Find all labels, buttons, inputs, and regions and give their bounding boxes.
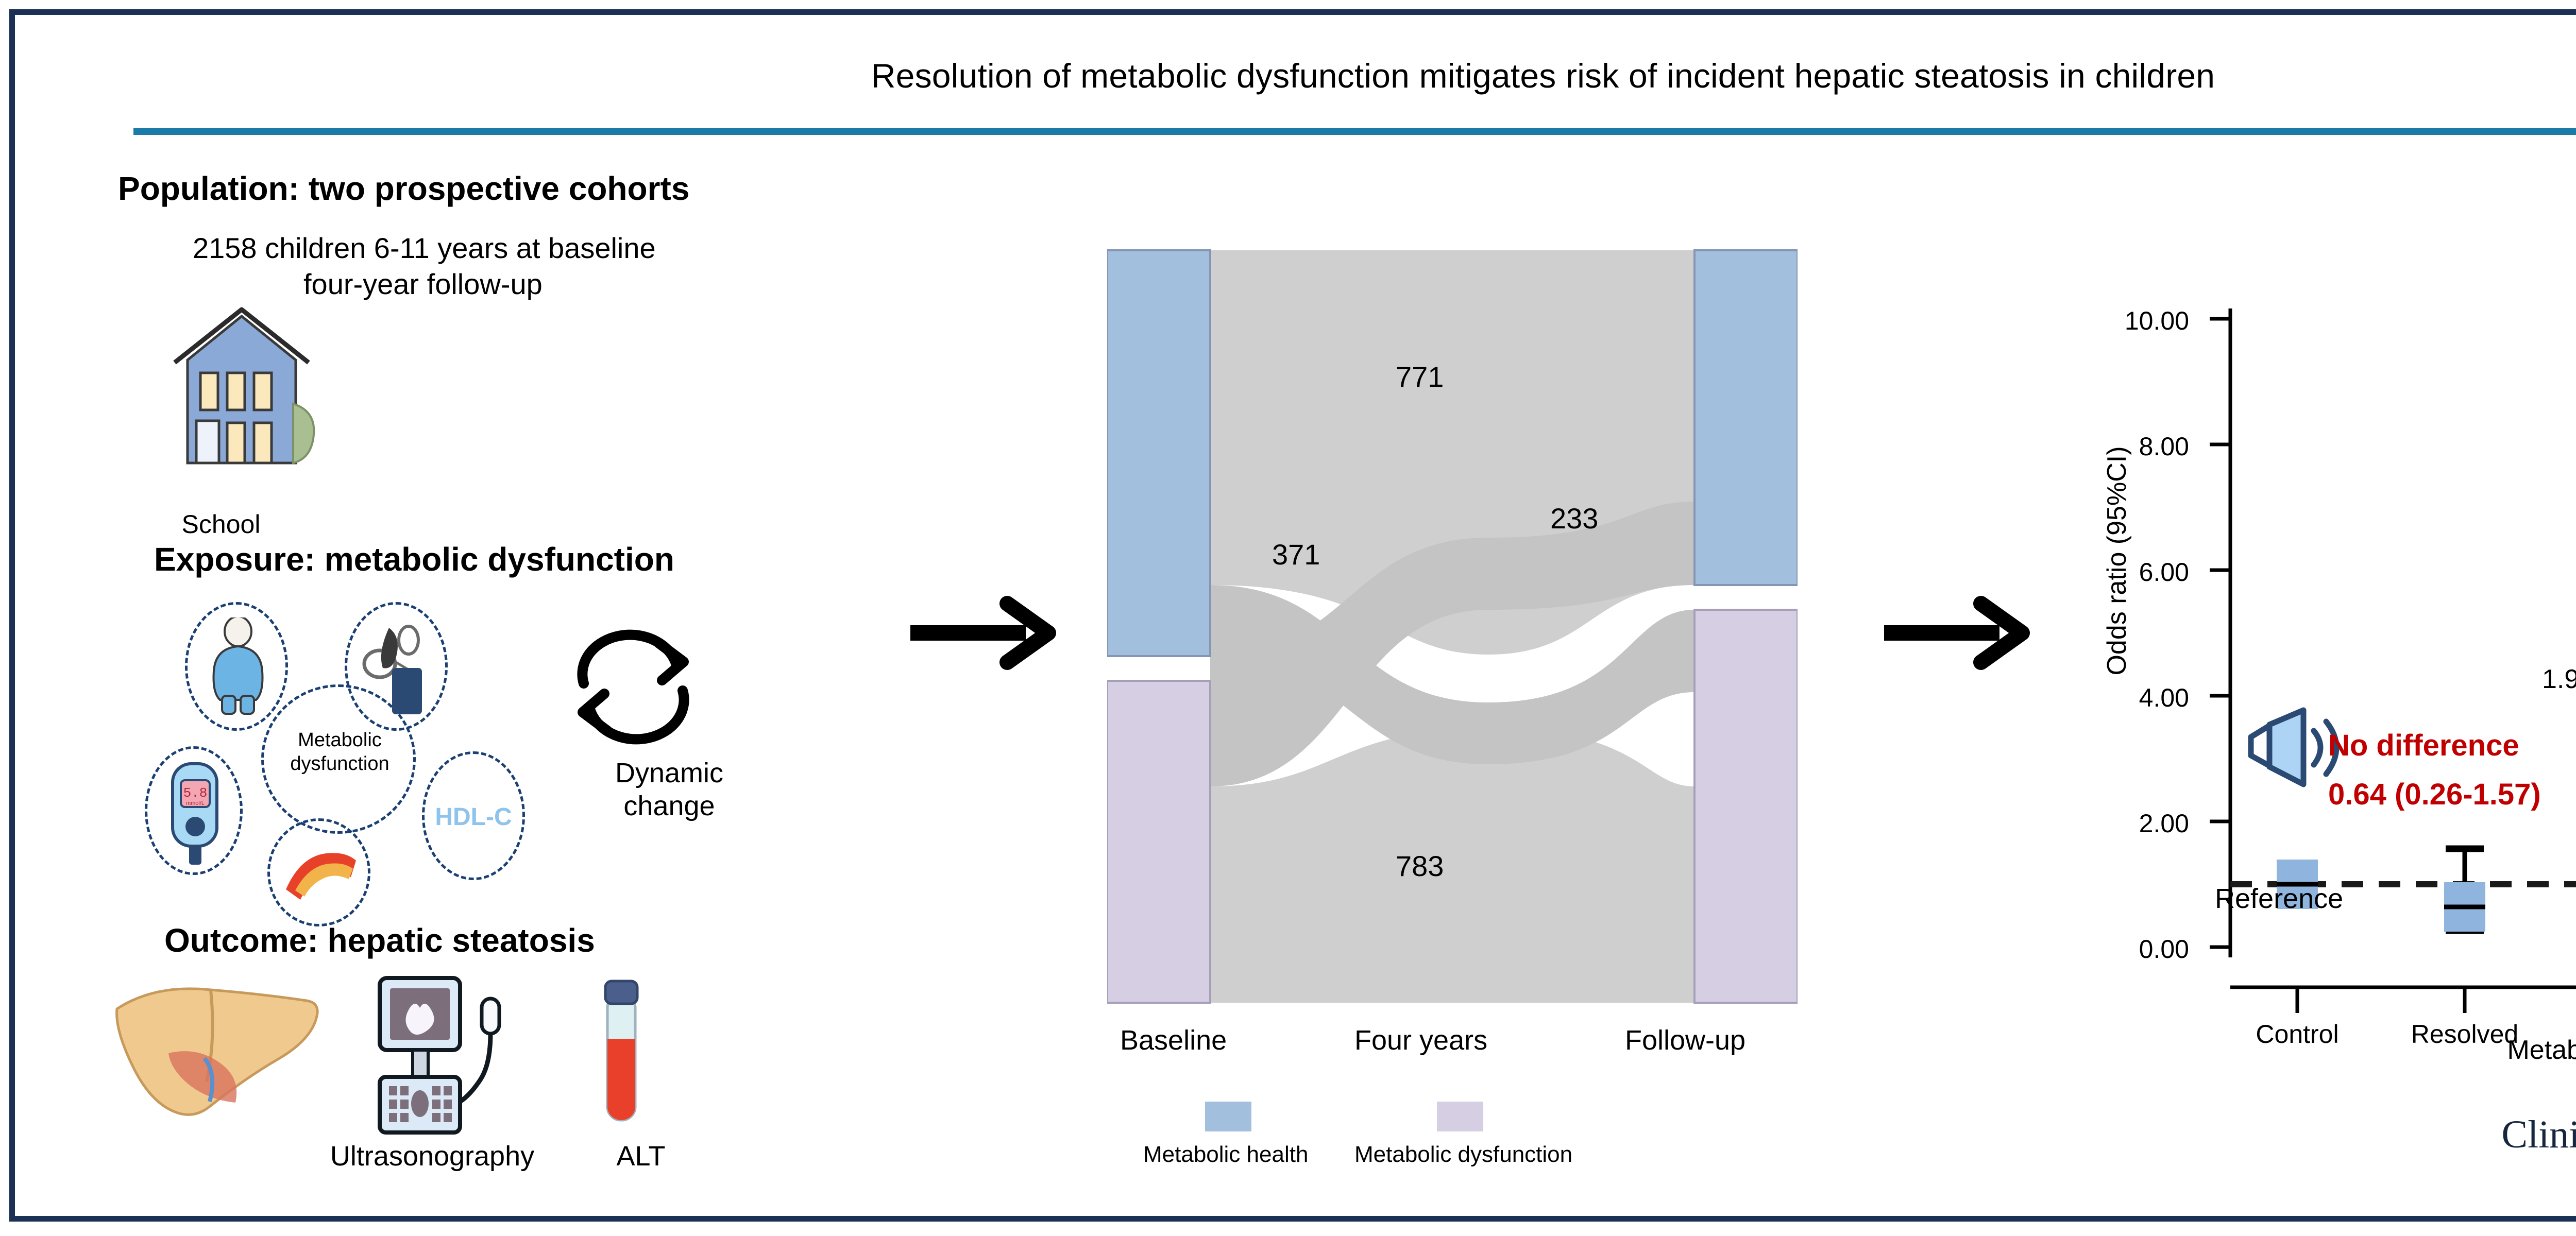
glucometer-icon: 5.8 mmol/L [160,761,232,869]
y-axis-title: Odds ratio (95%CI) [2102,396,2132,726]
journal-line-1: Clinical Gastroenterology [2369,1114,2576,1155]
glucose-reading: 5.8 [183,785,208,801]
sankey-flow-dysfunction-dysfunction [1210,728,1694,1003]
metabolic-dysfunction-label: Metabolicdysfunction [266,728,413,776]
forest-plot: 0.00 2.00 4.00 6.00 8.00 10.00 Control R… [2024,257,2576,1050]
sankey-node-baseline-health [1107,250,1210,656]
y-tick-5: 10.00 [2060,306,2189,336]
graphical-abstract: Resolution of metabolic dysfunction miti… [9,9,2576,1222]
sankey-node-followup-dysfunction [1694,610,1798,1003]
no-difference-annotation: No difference [2328,728,2519,763]
arrow-to-forest-icon [1880,594,2035,672]
liver-icon [108,973,324,1127]
dynamic-change-label: Dynamicchange [561,757,777,822]
sankey-stage-followup: Follow-up [1625,1024,1745,1056]
exposure-heading: Exposure: metabolic dysfunction [154,540,674,578]
y-axis-ticks [2210,319,2230,947]
journal-logo: Clinical Gastroenterology and Hepatology [2369,1114,2576,1195]
population-heading: Population: two prospective cohorts [118,169,689,208]
population-line-1: 2158 children 6-11 years at baseline [193,231,656,265]
glucose-unit: mmol/L [186,800,205,806]
reference-label: Reference [2215,883,2343,915]
megaphone-icon [2251,710,2336,784]
school-icon-label: School [144,509,298,539]
ultrasound-machine-icon [355,976,525,1136]
sankey-legend: Metabolic health Metabolic dysfunction [1138,1102,1859,1174]
sankey-node-followup-health [1694,250,1798,585]
lipid-artery-icon [282,840,359,902]
sankey-stage-four-years: Four years [1354,1024,1487,1056]
x-axis-ticks [2297,987,2576,1013]
obesity-icon [205,617,272,715]
sankey-flows [1210,250,1694,1003]
hdl-c-label: HDL-C [422,803,525,831]
sankey-node-baseline-dysfunction [1107,681,1210,1003]
y-tick-1: 2.00 [2060,809,2189,838]
legend-swatch-metabolic-dysfunction [1437,1102,1483,1131]
journal-line-2: and Hepatology [2369,1155,2576,1195]
datapoint-resolved [2444,849,2485,932]
school-icon [139,293,355,509]
dynamic-change-icon [561,623,777,860]
ultrasonography-label: Ultrasonography [303,1140,561,1172]
estimate-label-incident: 1.99 (1.19-3.33) [2542,664,2576,695]
page-title: Resolution of metabolic dysfunction miti… [15,56,2576,95]
blood-pressure-icon [361,619,433,716]
metabolic-dysfunction-cluster: 5.8 mmol/L Metabolicdysfunction HDL-C [149,597,525,885]
outcome-heading: Outcome: hepatic steatosis [164,921,595,959]
x-axis-title: Metabolic dysfunction change [2375,1035,2576,1066]
title-divider [133,128,2576,135]
sankey-diagram: 771 371 233 783 [1107,249,1798,1004]
y-tick-0: 0.00 [2060,934,2189,964]
estimate-label-resolved: 0.64 (0.26-1.57) [2328,777,2541,812]
legend-label-metabolic-dysfunction: Metabolic dysfunction [1354,1142,1572,1168]
sankey-flow-value-233: 233 [1550,502,1598,535]
legend-swatch-metabolic-health [1205,1102,1251,1131]
sankey-flow-value-783: 783 [1396,849,1444,883]
sankey-stage-baseline: Baseline [1120,1024,1227,1056]
alt-label: ALT [577,1140,705,1172]
sankey-flow-value-371: 371 [1272,538,1320,571]
legend-label-metabolic-health: Metabolic health [1143,1142,1308,1168]
blood-tube-icon [586,977,658,1131]
arrow-to-sankey-icon [906,594,1061,672]
sankey-flow-value-771: 771 [1396,360,1444,393]
